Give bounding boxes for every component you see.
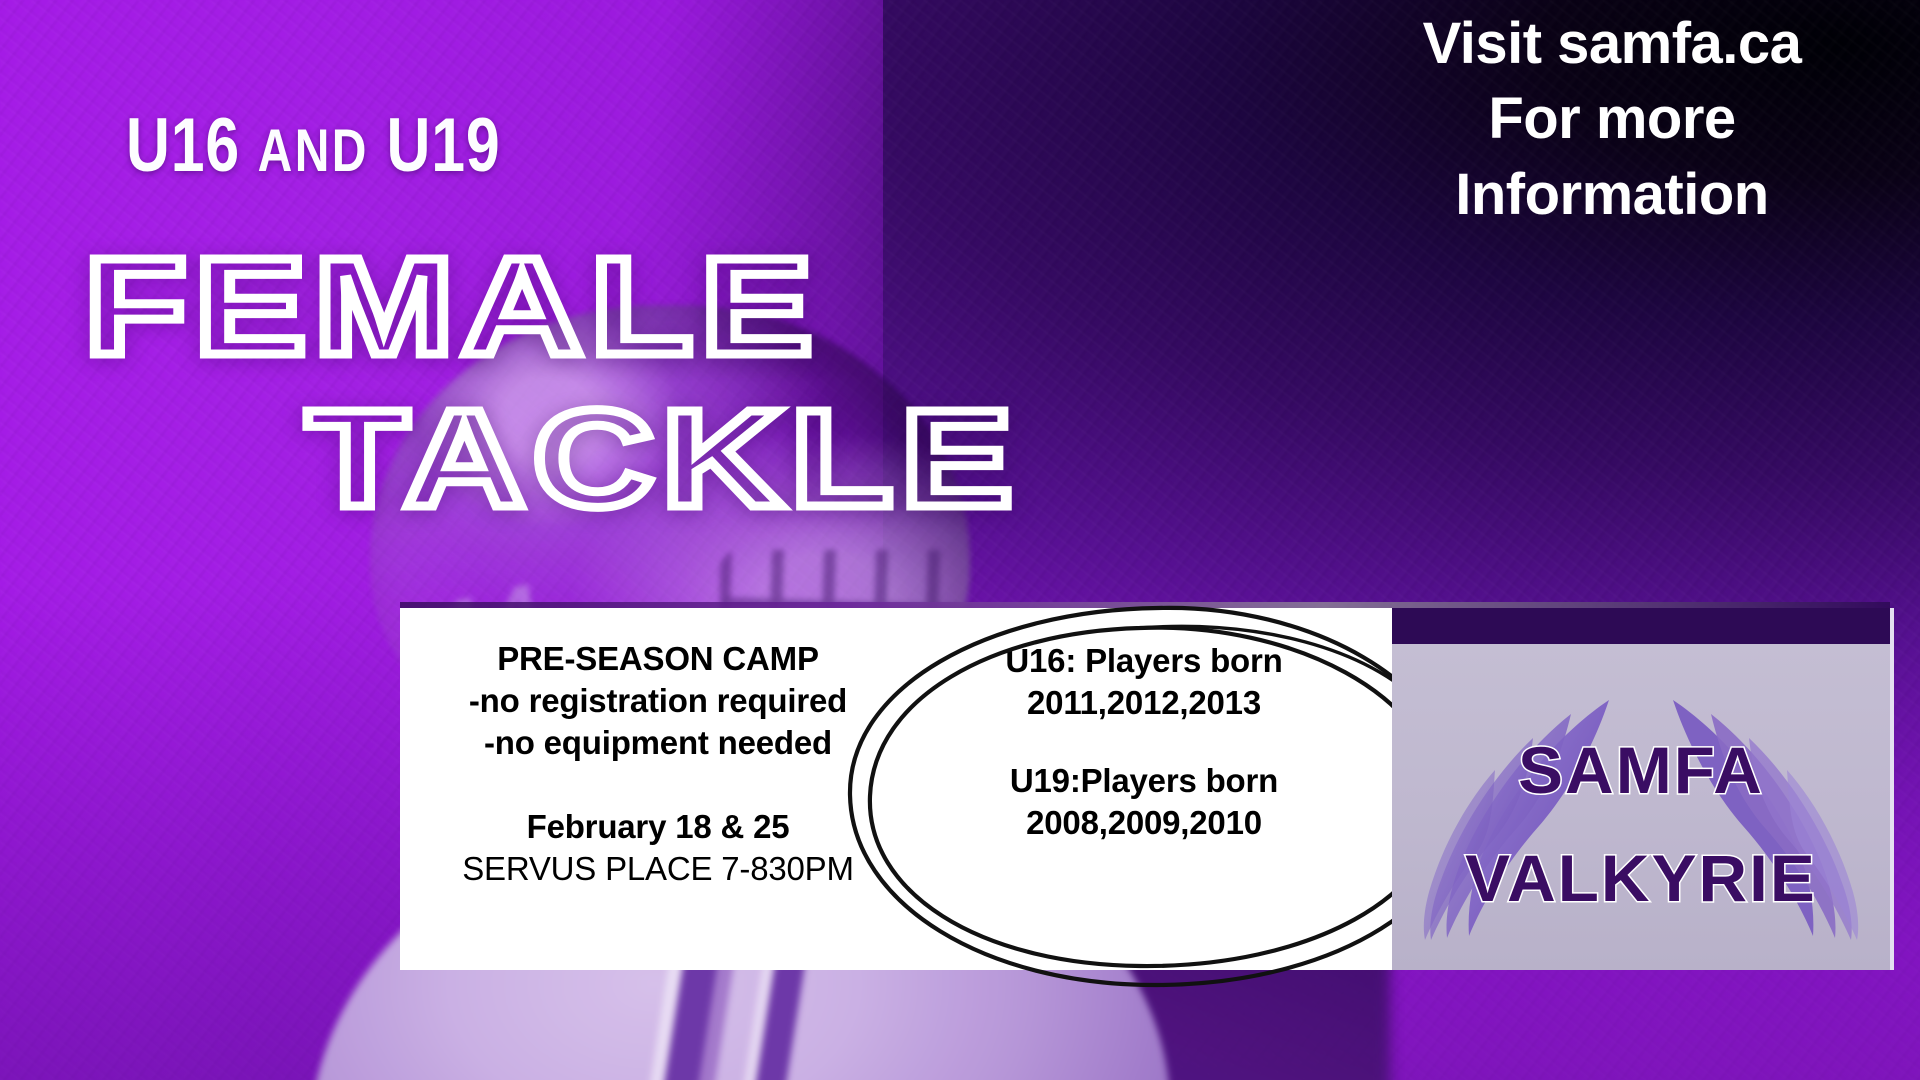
age-group-eyebrow: U16 AND U19 (126, 108, 500, 184)
title-line-female: FEMALE (84, 244, 820, 371)
u19-label: U19:Players born (896, 760, 1392, 802)
title-line-tackle: TACKLE (306, 396, 1020, 523)
eyebrow-and: AND (258, 117, 369, 184)
camp-bullet-registration: -no registration required (420, 680, 896, 722)
camp-dates: February 18 & 25 (420, 806, 896, 848)
eyebrow-u16: U16 (126, 103, 240, 188)
u19-birth-years: 2008,2009,2010 (896, 802, 1392, 844)
samfa-valkyrie-logo-panel: SAMFA VALKYRIE (1392, 608, 1894, 970)
eyebrow-u19: U19 (387, 103, 501, 188)
poster-canvas: 14 U16 AND U19 FEMALE TACKLE Visit samfa… (0, 0, 1920, 1080)
info-card: PRE-SEASON CAMP -no registration require… (400, 608, 1392, 970)
logo-word-samfa: SAMFA (1392, 732, 1894, 808)
camp-bullet-equipment: -no equipment needed (420, 722, 896, 764)
visit-line-formore: For more (1352, 81, 1872, 156)
logo-word-valkyrie: VALKYRIE (1392, 840, 1894, 916)
camp-venue-time: SERVUS PLACE 7-830PM (420, 848, 896, 890)
camp-heading: PRE-SEASON CAMP (420, 638, 896, 680)
visit-line-information: Information (1352, 157, 1872, 232)
visit-line-url: Visit samfa.ca (1352, 6, 1872, 81)
u16-birth-years: 2011,2012,2013 (896, 682, 1392, 724)
u16-label: U16: Players born (896, 640, 1392, 682)
camp-details-column: PRE-SEASON CAMP -no registration require… (400, 608, 896, 970)
visit-website-block: Visit samfa.ca For more Information (1352, 6, 1872, 232)
logo-panel-top-band (1392, 608, 1890, 644)
eligibility-column: U16: Players born 2011,2012,2013 U19:Pla… (896, 608, 1392, 970)
